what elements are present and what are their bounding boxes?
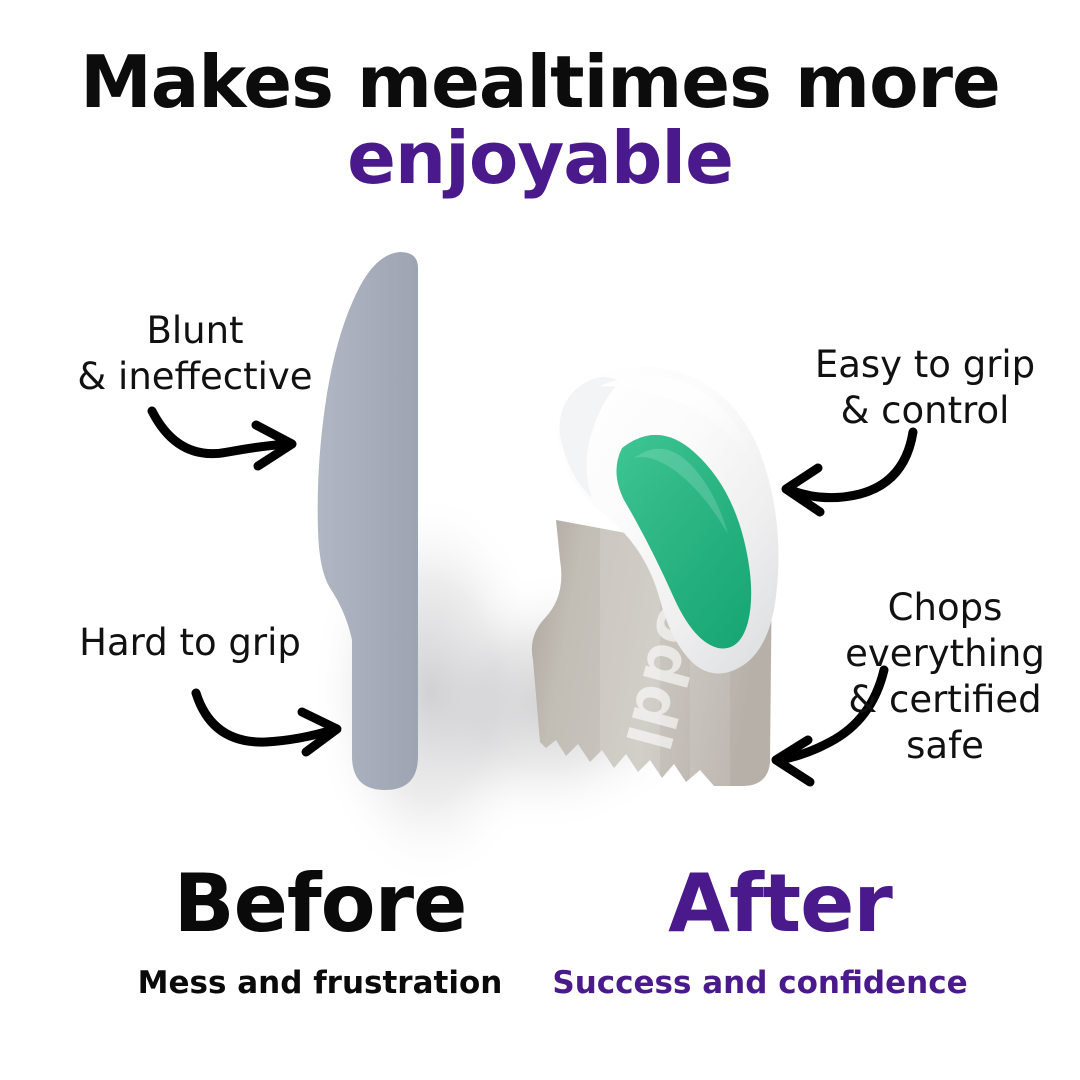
annotation-chops: Chops everything & certified safe <box>820 585 1070 769</box>
before-title: Before <box>60 862 580 946</box>
annotation-hard-to-grip: Hard to grip <box>40 620 340 666</box>
arrow-blunt <box>152 411 292 466</box>
annotation-easy-to-grip: Easy to grip & control <box>780 342 1070 434</box>
after-title: After <box>520 862 1040 946</box>
after-subtitle: Success and confidence <box>500 965 1020 1001</box>
arrow-easy-to-grip <box>786 432 913 512</box>
annotation-blunt: Blunt & ineffective <box>30 308 360 400</box>
promo-graphic: Makes mealtimes more enjoyable <box>0 0 1080 1080</box>
